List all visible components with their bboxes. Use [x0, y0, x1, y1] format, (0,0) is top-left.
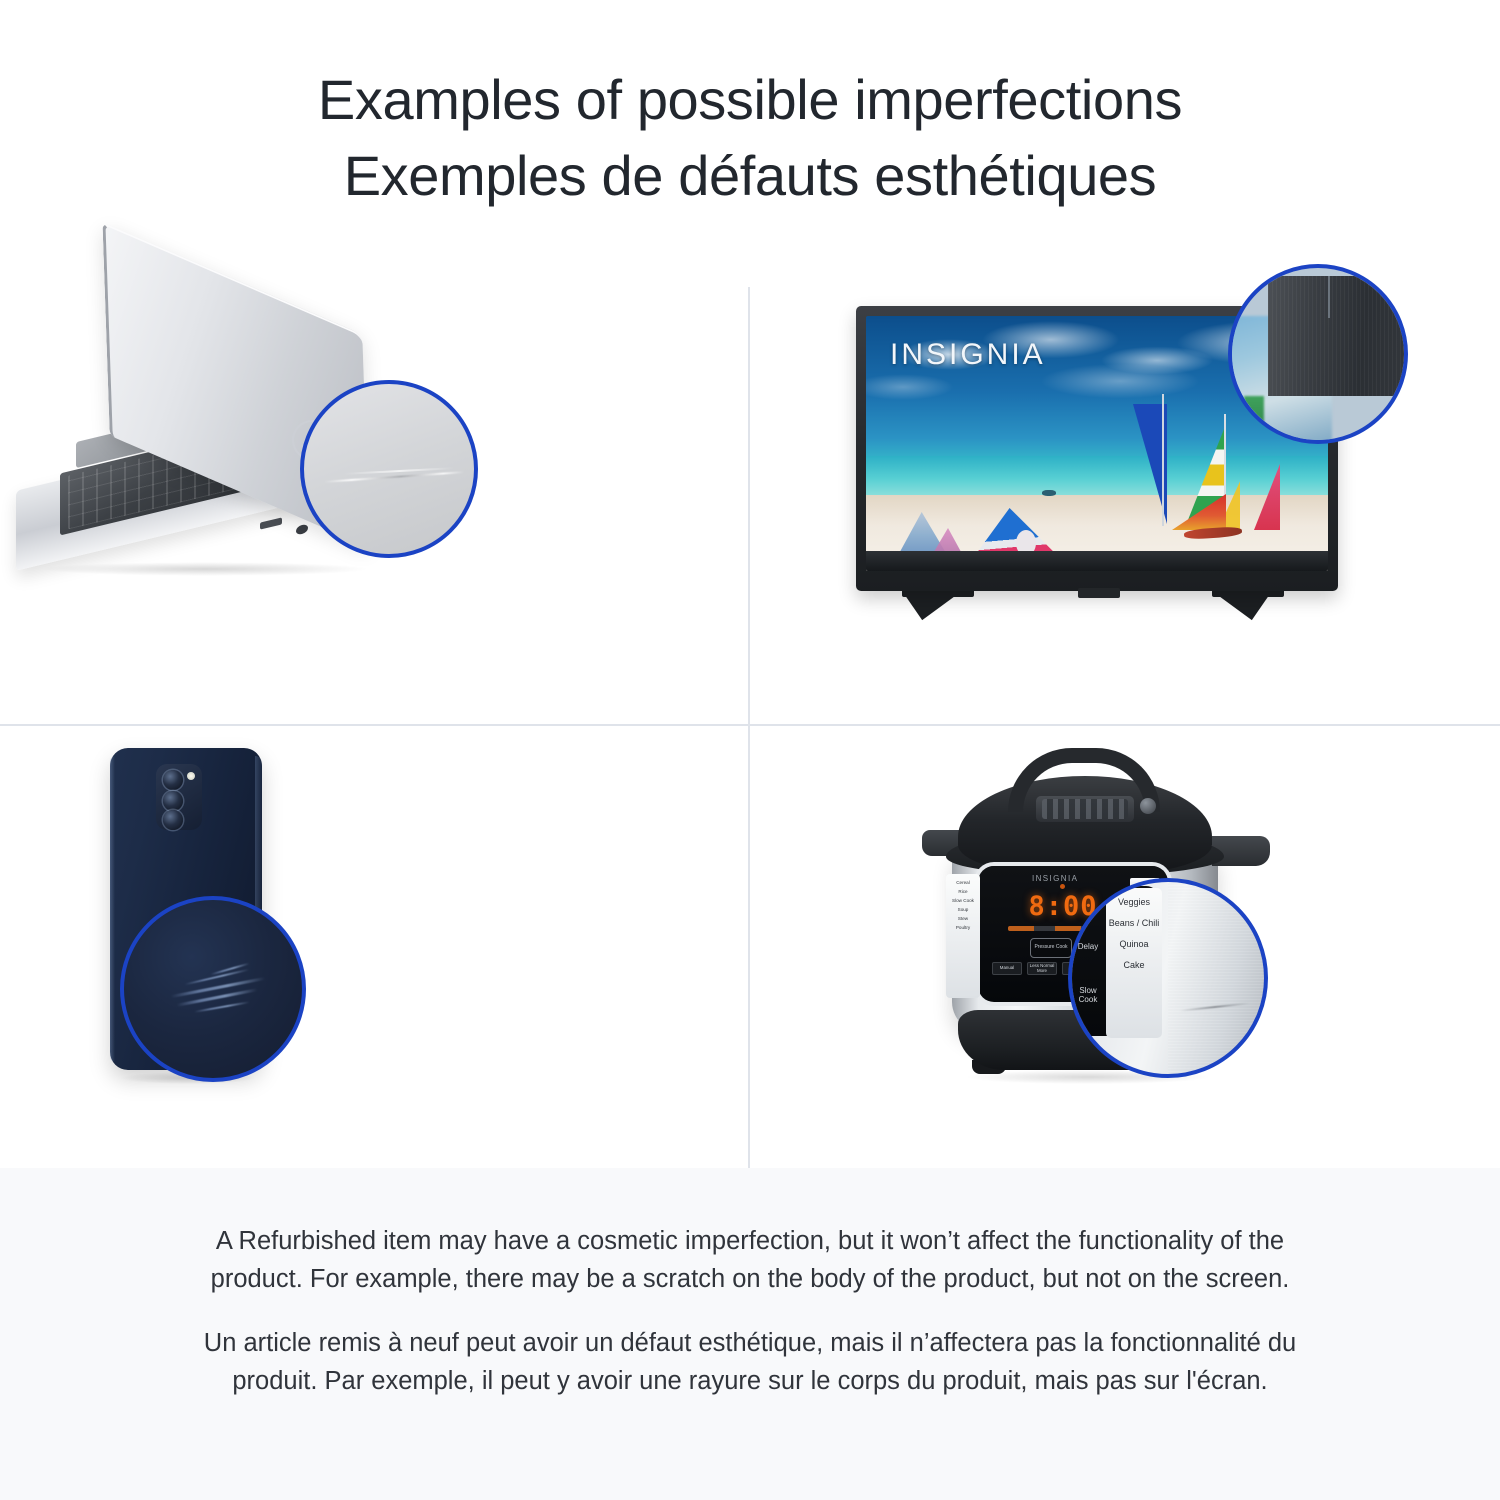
cooker-button-rice[interactable]: Rice	[948, 889, 978, 894]
cooker-zoom-button-cake: Cake	[1123, 961, 1144, 971]
camera-lens-icon	[163, 810, 183, 830]
examples-grid: INSIGNIA	[0, 258, 1500, 1168]
tv-brand-logo: INSIGNIA	[890, 338, 1046, 372]
laptop-audio-port	[296, 524, 308, 536]
cooker-button-cereal[interactable]: Cereal	[948, 880, 978, 885]
tv-zoom-sail-detail	[1244, 396, 1264, 442]
magnifier-phone-scratches	[120, 896, 306, 1082]
magnifier-laptop-scratch	[300, 380, 478, 558]
laptop-shadow	[40, 562, 370, 576]
cooker-zoom-button-veggies: Veggies	[1118, 898, 1150, 908]
cooker-button-soup[interactable]: Soup	[948, 907, 978, 912]
cooker-zoom-button-delay: Delay	[1070, 942, 1106, 951]
cell-television: INSIGNIA	[750, 258, 1500, 724]
cooker-zoom-button-beans-chili: Beans / Chili	[1109, 919, 1160, 929]
cooker-pressure-valve-icon	[1140, 798, 1156, 814]
smartphone-image	[78, 748, 308, 1098]
pressure-cooker-image: INSIGNIA 8:00 Pressure Cook Manual Less …	[924, 734, 1264, 1094]
cell-pressure-cooker: INSIGNIA 8:00 Pressure Cook Manual Less …	[750, 726, 1500, 1168]
cooker-button-adjust[interactable]: Less Normal More	[1027, 962, 1057, 975]
sailboat-blue-mast	[1162, 394, 1164, 526]
cooker-status-led	[1060, 884, 1065, 889]
cell-laptop	[0, 258, 748, 724]
cell-smartphone	[0, 726, 748, 1168]
cooker-zoom-steel-texture	[1168, 882, 1264, 1074]
sea	[866, 456, 1328, 497]
tv-zoom-bezel-texture	[1268, 276, 1408, 396]
cooker-button-manual[interactable]: Manual	[992, 962, 1022, 975]
scratch-mark	[194, 1001, 249, 1013]
television-image: INSIGNIA	[856, 288, 1356, 633]
page-footer: A Refurbished item may have a cosmetic i…	[0, 1168, 1500, 1500]
cooker-brand-label: INSIGNIA	[1032, 874, 1078, 883]
laptop-image	[10, 280, 430, 570]
camera-module	[156, 764, 202, 830]
cooker-lid-vent	[1036, 796, 1134, 822]
cooker-button-stew[interactable]: Stew	[948, 916, 978, 921]
page-title-en: Examples of possible imperfections	[318, 62, 1182, 138]
footer-paragraph-fr: Un article remis à neuf peut avoir un dé…	[180, 1324, 1320, 1400]
cooker-left-button-column: Cereal Rice Slow Cook Soup Stew Poultry	[946, 874, 980, 998]
cooker-button-slow-cook[interactable]: Slow Cook	[948, 898, 978, 903]
distant-boat	[1042, 490, 1056, 496]
cooker-button-poultry[interactable]: Poultry	[948, 925, 978, 930]
magnifier-cooker-scratch: Delay Slow Cook Veggies Beans / Chili Qu…	[1068, 878, 1268, 1078]
cooker-zoom-button-slow-cook: Slow Cook	[1070, 986, 1106, 1004]
camera-lens-icon	[163, 791, 183, 811]
cooker-zoom-button-column: Veggies Beans / Chili Quinoa Cake	[1106, 888, 1162, 1038]
tv-chin	[866, 551, 1328, 571]
cooker-zoom-button-quinoa: Quinoa	[1119, 940, 1148, 950]
camera-lens-icon	[163, 770, 183, 790]
laptop-usb-port	[260, 517, 282, 529]
footer-paragraph-en: A Refurbished item may have a cosmetic i…	[180, 1222, 1320, 1298]
camera-flash-icon	[187, 772, 195, 780]
magnifier-tv-bezel	[1228, 264, 1408, 444]
tv-ir-receiver	[1078, 588, 1120, 598]
tv-zoom-scratch-line	[1328, 276, 1330, 318]
cooker-center-button[interactable]: Pressure Cook	[1030, 938, 1072, 958]
page-title-fr: Exemples de défauts esthétiques	[344, 138, 1157, 214]
tv-zoom-bezel-corner	[1268, 276, 1408, 396]
page-header: Examples of possible imperfections Exemp…	[0, 0, 1500, 258]
